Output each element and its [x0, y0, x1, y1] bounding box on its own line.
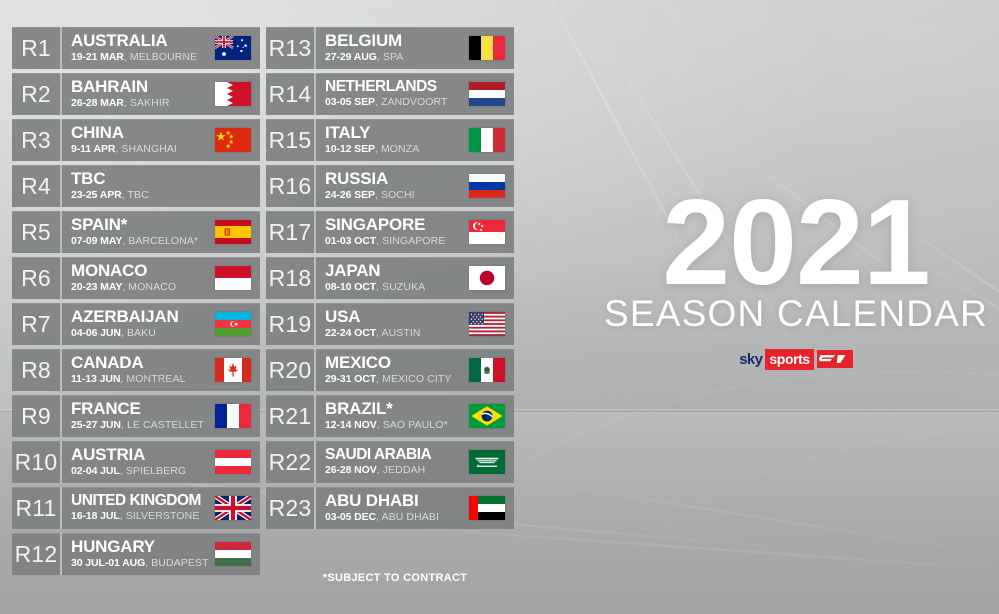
round-number: R4: [21, 175, 51, 198]
country-name: ABU DHABI: [325, 492, 439, 509]
race-venue: SPA: [383, 51, 404, 63]
country-name: SINGAPORE: [325, 216, 445, 233]
round-cell: R14: [266, 73, 316, 115]
race-venue: ABU DHABI: [382, 511, 440, 523]
round-number: R3: [21, 129, 51, 152]
race-text-wrap: BRAZIL*12-14 NOV, SAO PAULO*: [325, 400, 448, 431]
race-row[interactable]: R1AUSTRALIA19-21 MAR, MELBOURNE: [12, 27, 260, 69]
race-dates: 24-26 SEP: [325, 189, 375, 201]
race-text-wrap: CHINA9-11 APR, SHANGHAI: [71, 124, 177, 155]
race-info: USA22-24 OCT, AUSTIN: [316, 303, 468, 345]
round-number: R16: [269, 175, 312, 198]
race-info: TBC23-25 APR, TBC: [62, 165, 214, 207]
round-cell: R5: [12, 211, 62, 253]
flag-cell: [214, 395, 260, 437]
round-number: R1: [21, 37, 51, 60]
race-detail: 23-25 APR, TBC: [71, 189, 149, 202]
title-block: 2021 SEASON CALENDAR sky sports: [600, 186, 992, 370]
race-venue: MEXICO CITY: [382, 373, 451, 385]
race-text-wrap: CANADA11-13 JUN, MONTREAL: [71, 354, 186, 385]
race-venue: SILVERSTONE: [126, 510, 200, 522]
race-text-wrap: RUSSIA24-26 SEP, SOCHI: [325, 170, 415, 201]
race-dates: 07-09 MAY: [71, 235, 122, 247]
race-text-wrap: BAHRAIN26-28 MAR, SAKHIR: [71, 78, 170, 109]
round-cell: R9: [12, 395, 62, 437]
race-dates: 08-10 OCT: [325, 281, 376, 293]
race-dates: 19-21 MAR: [71, 51, 124, 63]
race-row[interactable]: R7AZERBAIJAN04-06 JUN, BAKU: [12, 303, 260, 345]
race-dates: 10-12 SEP: [325, 143, 375, 155]
race-row[interactable]: R22SAUDI ARABIA26-28 NOV, JEDDAH: [266, 441, 514, 483]
china-flag-icon: [215, 128, 251, 152]
round-number: R21: [269, 405, 312, 428]
race-info: ITALY10-12 SEP, MONZA: [316, 119, 468, 161]
country-name: USA: [325, 308, 421, 325]
japan-flag-icon: [469, 266, 505, 290]
race-text-wrap: AUSTRIA02-04 JUL, SPIELBERG: [71, 446, 186, 477]
race-row[interactable]: R9FRANCE25-27 JUN, LE CASTELLET: [12, 395, 260, 437]
monaco-flag-icon: [215, 266, 251, 290]
race-row[interactable]: R5SPAIN*07-09 MAY, BARCELONA*: [12, 211, 260, 253]
flag-cell: [468, 487, 514, 529]
race-detail: 08-10 OCT, SUZUKA: [325, 281, 425, 294]
round-cell: R8: [12, 349, 62, 391]
round-cell: R17: [266, 211, 316, 253]
round-cell: R11: [12, 487, 62, 529]
footnote-subject-to-contract: *SUBJECT TO CONTRACT: [266, 572, 524, 584]
country-name: ITALY: [325, 124, 419, 141]
country-name: CHINA: [71, 124, 177, 141]
flag-cell: [468, 395, 514, 437]
round-number: R10: [15, 451, 58, 474]
race-detail: 12-14 NOV, SAO PAULO*: [325, 419, 448, 432]
race-dates: 25-27 JUN: [71, 419, 121, 431]
race-detail: 16-18 JUL, SILVERSTONE: [71, 510, 201, 523]
race-row[interactable]: R14NETHERLANDS03-05 SEP, ZANDVOORT: [266, 73, 514, 115]
flag-cell: [214, 533, 260, 575]
sports-wordmark: sports: [765, 349, 813, 370]
race-venue: ZANDVOORT: [381, 96, 448, 108]
spain-flag-icon: [215, 220, 251, 244]
france-flag-icon: [215, 404, 251, 428]
race-row[interactable]: R19USA22-24 OCT, AUSTIN: [266, 303, 514, 345]
calendar-poster: R1AUSTRALIA19-21 MAR, MELBOURNE R2BAHRAI…: [0, 0, 999, 614]
race-row[interactable]: R11UNITED KINGDOM16-18 JUL, SILVERSTONE: [12, 487, 260, 529]
flag-cell: [468, 303, 514, 345]
race-dates: 22-24 OCT: [325, 327, 376, 339]
country-name: NETHERLANDS: [325, 79, 448, 95]
flag-cell: [468, 211, 514, 253]
race-info: AUSTRALIA19-21 MAR, MELBOURNE: [62, 27, 214, 69]
race-row[interactable]: R16RUSSIA24-26 SEP, SOCHI: [266, 165, 514, 207]
race-detail: 03-05 SEP, ZANDVOORT: [325, 96, 448, 109]
brazil-flag-icon: [469, 404, 505, 428]
race-text-wrap: BELGIUM27-29 AUG, SPA: [325, 32, 403, 63]
race-info: NETHERLANDS03-05 SEP, ZANDVOORT: [316, 73, 468, 115]
country-name: UNITED KINGDOM: [71, 493, 201, 509]
race-text-wrap: SAUDI ARABIA26-28 NOV, JEDDAH: [325, 447, 431, 477]
race-dates: 9-11 APR: [71, 143, 115, 155]
flag-cell: [468, 73, 514, 115]
race-detail: 19-21 MAR, MELBOURNE: [71, 51, 197, 64]
race-venue: MELBOURNE: [130, 51, 197, 63]
race-info: SAUDI ARABIA26-28 NOV, JEDDAH: [316, 441, 468, 483]
race-text-wrap: SPAIN*07-09 MAY, BARCELONA*: [71, 216, 198, 247]
round-number: R14: [269, 83, 312, 106]
round-number: R9: [21, 405, 51, 428]
australia-flag-icon: [215, 36, 251, 60]
round-number: R23: [269, 497, 312, 520]
race-dates: 04-06 JUN: [71, 327, 121, 339]
race-dates: 12-14 NOV: [325, 419, 377, 431]
country-name: RUSSIA: [325, 170, 415, 187]
round-number: R18: [269, 267, 312, 290]
round-cell: R19: [266, 303, 316, 345]
round-number: R22: [269, 451, 312, 474]
race-info: JAPAN08-10 OCT, SUZUKA: [316, 257, 468, 299]
race-venue: TBC: [128, 189, 149, 201]
race-venue: BAKU: [127, 327, 156, 339]
country-name: TBC: [71, 170, 149, 187]
race-row[interactable]: R20MEXICO29-31 OCT, MEXICO CITY: [266, 349, 514, 391]
race-detail: 03-05 DEC, ABU DHABI: [325, 511, 439, 524]
race-row[interactable]: R8CANADA11-13 JUN, MONTREAL: [12, 349, 260, 391]
country-name: MONACO: [71, 262, 176, 279]
race-row[interactable]: R21BRAZIL*12-14 NOV, SAO PAULO*: [266, 395, 514, 437]
flag-cell: [468, 441, 514, 483]
subtitle-heading: SEASON CALENDAR: [600, 294, 992, 335]
country-name: BELGIUM: [325, 32, 403, 49]
round-cell: R7: [12, 303, 62, 345]
race-dates: 03-05 SEP: [325, 96, 375, 108]
race-text-wrap: MEXICO29-31 OCT, MEXICO CITY: [325, 354, 451, 385]
round-number: R20: [269, 359, 312, 382]
bahrain-flag-icon: [215, 82, 251, 106]
race-info: BAHRAIN26-28 MAR, SAKHIR: [62, 73, 214, 115]
race-text-wrap: NETHERLANDS03-05 SEP, ZANDVOORT: [325, 79, 448, 109]
round-cell: R23: [266, 487, 316, 529]
race-dates: 01-03 OCT: [325, 235, 376, 247]
saudi-flag-icon: [469, 450, 505, 474]
race-row[interactable]: R15ITALY10-12 SEP, MONZA: [266, 119, 514, 161]
race-dates: 11-13 JUN: [71, 373, 120, 385]
flag-cell: [214, 349, 260, 391]
country-name: AZERBAIJAN: [71, 308, 179, 325]
round-cell: R6: [12, 257, 62, 299]
flag-cell: [468, 165, 514, 207]
race-text-wrap: USA22-24 OCT, AUSTIN: [325, 308, 421, 339]
round-cell: R4: [12, 165, 62, 207]
race-venue: MONTREAL: [126, 373, 185, 385]
mexico-flag-icon: [469, 358, 505, 382]
race-text-wrap: SINGAPORE01-03 OCT, SINGAPORE: [325, 216, 445, 247]
race-venue: MONACO: [128, 281, 176, 293]
country-name: BRAZIL*: [325, 400, 448, 417]
race-row[interactable]: R23ABU DHABI03-05 DEC, ABU DHABI: [266, 487, 514, 529]
round-number: R2: [21, 83, 51, 106]
flag-cell: [214, 441, 260, 483]
country-name: CANADA: [71, 354, 186, 371]
country-name: FRANCE: [71, 400, 204, 417]
race-row[interactable]: R3CHINA9-11 APR, SHANGHAI: [12, 119, 260, 161]
race-detail: 07-09 MAY, BARCELONA*: [71, 235, 198, 248]
italy-flag-icon: [469, 128, 505, 152]
round-number: R19: [269, 313, 312, 336]
country-name: BAHRAIN: [71, 78, 170, 95]
country-name: AUSTRALIA: [71, 32, 197, 49]
race-text-wrap: HUNGARY30 JUL-01 AUG, BUDAPEST: [71, 538, 209, 569]
round-number: R15: [269, 129, 312, 152]
race-venue: JEDDAH: [383, 464, 426, 476]
race-dates: 30 JUL-01 AUG: [71, 557, 145, 569]
flag-cell: [214, 165, 260, 207]
race-info: BELGIUM27-29 AUG, SPA: [316, 27, 468, 69]
country-name: HUNGARY: [71, 538, 209, 555]
race-info: HUNGARY30 JUL-01 AUG, BUDAPEST: [62, 533, 214, 575]
uae-flag-icon: [469, 496, 505, 520]
calendar-column-right: R13BELGIUM27-29 AUG, SPA R14NETHERLANDS0…: [266, 27, 514, 533]
uk-flag-icon: [215, 496, 251, 520]
russia-flag-icon: [469, 174, 505, 198]
race-venue: SUZUKA: [382, 281, 425, 293]
belgium-flag-icon: [469, 36, 505, 60]
round-cell: R10: [12, 441, 62, 483]
race-info: MEXICO29-31 OCT, MEXICO CITY: [316, 349, 468, 391]
race-info: BRAZIL*12-14 NOV, SAO PAULO*: [316, 395, 468, 437]
round-cell: R21: [266, 395, 316, 437]
race-dates: 16-18 JUL: [71, 510, 120, 522]
flag-cell: [468, 257, 514, 299]
usa-flag-icon: [469, 312, 505, 336]
race-detail: 11-13 JUN, MONTREAL: [71, 373, 186, 386]
country-name: SPAIN*: [71, 216, 198, 233]
race-detail: 01-03 OCT, SINGAPORE: [325, 235, 445, 248]
race-info: SINGAPORE01-03 OCT, SINGAPORE: [316, 211, 468, 253]
flag-cell: [214, 73, 260, 115]
race-info: AUSTRIA02-04 JUL, SPIELBERG: [62, 441, 214, 483]
race-dates: 26-28 NOV: [325, 464, 377, 476]
round-number: R7: [21, 313, 51, 336]
country-name: MEXICO: [325, 354, 451, 371]
race-detail: 9-11 APR, SHANGHAI: [71, 143, 177, 156]
race-info: RUSSIA24-26 SEP, SOCHI: [316, 165, 468, 207]
race-text-wrap: FRANCE25-27 JUN, LE CASTELLET: [71, 400, 204, 431]
race-text-wrap: ITALY10-12 SEP, MONZA: [325, 124, 419, 155]
race-text-wrap: JAPAN08-10 OCT, SUZUKA: [325, 262, 425, 293]
race-detail: 24-26 SEP, SOCHI: [325, 189, 415, 202]
race-row[interactable]: R4TBC23-25 APR, TBC: [12, 165, 260, 207]
round-cell: R18: [266, 257, 316, 299]
round-number: R6: [21, 267, 51, 290]
f1-logo-icon: [817, 350, 853, 368]
country-name: JAPAN: [325, 262, 425, 279]
flag-cell: [214, 303, 260, 345]
round-number: R5: [21, 221, 51, 244]
race-dates: 23-25 APR: [71, 189, 122, 201]
race-detail: 20-23 MAY, MONACO: [71, 281, 176, 294]
round-number: R8: [21, 359, 51, 382]
sky-wordmark: sky: [739, 352, 762, 367]
race-info: UNITED KINGDOM16-18 JUL, SILVERSTONE: [62, 487, 214, 529]
race-detail: 10-12 SEP, MONZA: [325, 143, 419, 156]
race-info: MONACO20-23 MAY, MONACO: [62, 257, 214, 299]
round-cell: R15: [266, 119, 316, 161]
race-text-wrap: AUSTRALIA19-21 MAR, MELBOURNE: [71, 32, 197, 63]
austria-flag-icon: [215, 450, 251, 474]
race-info: ABU DHABI03-05 DEC, ABU DHABI: [316, 487, 468, 529]
round-cell: R12: [12, 533, 62, 575]
race-venue: SAO PAULO*: [383, 419, 448, 431]
race-dates: 02-04 JUL: [71, 465, 120, 477]
flag-cell: [468, 349, 514, 391]
flag-cell: [214, 487, 260, 529]
round-cell: R16: [266, 165, 316, 207]
sky-sports-f1-logo: sky sports: [600, 349, 992, 370]
race-dates: 27-29 AUG: [325, 51, 377, 63]
race-venue: SHANGHAI: [121, 143, 177, 155]
race-venue: SAKHIR: [130, 97, 170, 109]
race-dates: 26-28 MAR: [71, 97, 124, 109]
year-heading: 2021: [600, 186, 992, 298]
race-row[interactable]: R2BAHRAIN26-28 MAR, SAKHIR: [12, 73, 260, 115]
flag-cell: [468, 27, 514, 69]
round-cell: R13: [266, 27, 316, 69]
netherlands-flag-icon: [469, 82, 505, 106]
race-detail: 29-31 OCT, MEXICO CITY: [325, 373, 451, 386]
flag-cell: [214, 257, 260, 299]
race-text-wrap: AZERBAIJAN04-06 JUN, BAKU: [71, 308, 179, 339]
race-info: FRANCE25-27 JUN, LE CASTELLET: [62, 395, 214, 437]
race-dates: 03-05 DEC: [325, 511, 376, 523]
race-venue: SOCHI: [381, 189, 415, 201]
race-text-wrap: UNITED KINGDOM16-18 JUL, SILVERSTONE: [71, 493, 201, 523]
race-info: CANADA11-13 JUN, MONTREAL: [62, 349, 214, 391]
azerbaijan-flag-icon: [215, 312, 251, 336]
race-dates: 20-23 MAY: [71, 281, 122, 293]
race-row[interactable]: R13BELGIUM27-29 AUG, SPA: [266, 27, 514, 69]
race-text-wrap: ABU DHABI03-05 DEC, ABU DHABI: [325, 492, 439, 523]
race-venue: LE CASTELLET: [127, 419, 204, 431]
race-text-wrap: TBC23-25 APR, TBC: [71, 170, 149, 201]
race-venue: BARCELONA*: [128, 235, 198, 247]
race-venue: SPIELBERG: [126, 465, 186, 477]
race-venue: AUSTIN: [382, 327, 421, 339]
round-cell: R3: [12, 119, 62, 161]
flag-cell: [214, 119, 260, 161]
round-number: R12: [15, 543, 58, 566]
race-row[interactable]: R10AUSTRIA02-04 JUL, SPIELBERG: [12, 441, 260, 483]
round-cell: R1: [12, 27, 62, 69]
round-cell: R22: [266, 441, 316, 483]
flag-cell: [468, 119, 514, 161]
round-number: R17: [269, 221, 312, 244]
race-info: AZERBAIJAN04-06 JUN, BAKU: [62, 303, 214, 345]
round-cell: R2: [12, 73, 62, 115]
hungary-flag-icon: [215, 542, 251, 566]
flag-cell: [214, 27, 260, 69]
race-info: CHINA9-11 APR, SHANGHAI: [62, 119, 214, 161]
race-venue: MONZA: [381, 143, 419, 155]
country-name: SAUDI ARABIA: [325, 447, 431, 463]
race-detail: 30 JUL-01 AUG, BUDAPEST: [71, 557, 209, 570]
race-row[interactable]: R17SINGAPORE01-03 OCT, SINGAPORE: [266, 211, 514, 253]
race-info: SPAIN*07-09 MAY, BARCELONA*: [62, 211, 214, 253]
race-detail: 26-28 MAR, SAKHIR: [71, 97, 170, 110]
race-row[interactable]: R6MONACO20-23 MAY, MONACO: [12, 257, 260, 299]
round-number: R11: [15, 497, 56, 520]
round-number: R13: [269, 37, 312, 60]
canada-flag-icon: [215, 358, 251, 382]
round-cell: R20: [266, 349, 316, 391]
race-detail: 22-24 OCT, AUSTIN: [325, 327, 421, 340]
flag-cell: [214, 211, 260, 253]
race-detail: 02-04 JUL, SPIELBERG: [71, 465, 186, 478]
singapore-flag-icon: [469, 220, 505, 244]
race-detail: 04-06 JUN, BAKU: [71, 327, 179, 340]
race-dates: 29-31 OCT: [325, 373, 376, 385]
race-detail: 26-28 NOV, JEDDAH: [325, 464, 431, 477]
race-row[interactable]: R18JAPAN08-10 OCT, SUZUKA: [266, 257, 514, 299]
race-row[interactable]: R12HUNGARY30 JUL-01 AUG, BUDAPEST: [12, 533, 260, 575]
country-name: AUSTRIA: [71, 446, 186, 463]
race-venue: BUDAPEST: [151, 557, 208, 569]
race-text-wrap: MONACO20-23 MAY, MONACO: [71, 262, 176, 293]
race-detail: 27-29 AUG, SPA: [325, 51, 403, 64]
race-venue: SINGAPORE: [382, 235, 445, 247]
race-detail: 25-27 JUN, LE CASTELLET: [71, 419, 204, 432]
calendar-column-left: R1AUSTRALIA19-21 MAR, MELBOURNE R2BAHRAI…: [12, 27, 260, 579]
